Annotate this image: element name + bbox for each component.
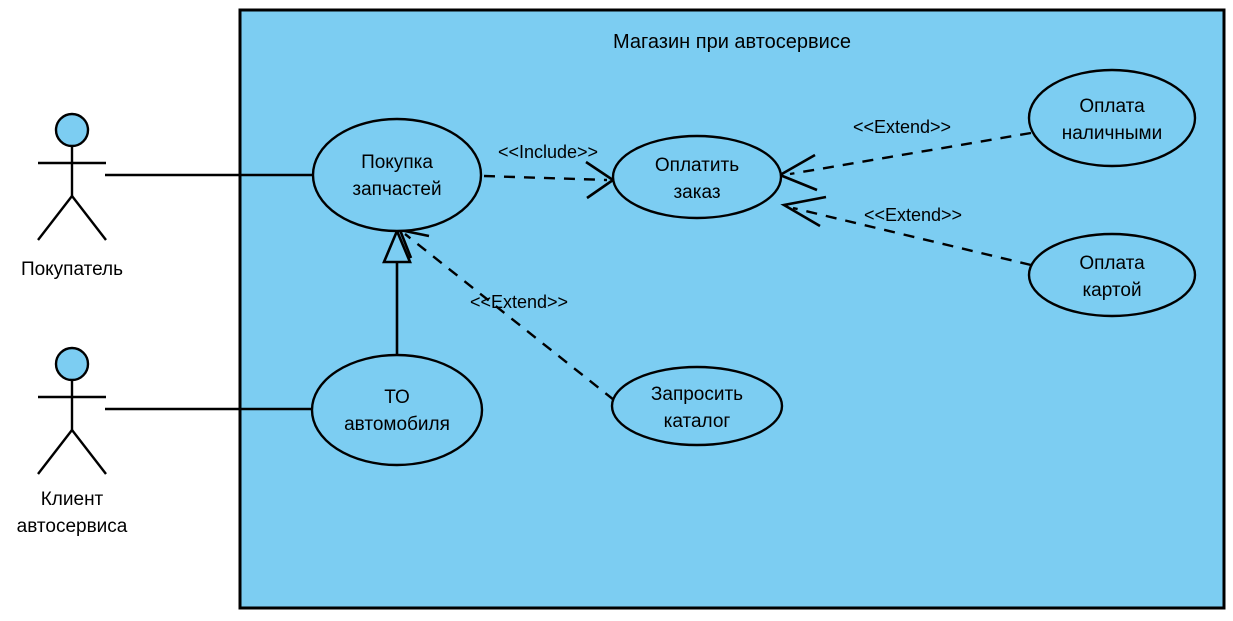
usecase-oplata-kartoy[interactable]: Оплата картой: [1029, 234, 1195, 316]
extend-stereotype-label: <<Extend>>: [853, 117, 951, 137]
usecase-label-line-1: Оплатить: [655, 155, 739, 176]
actor-right-leg-line: [72, 430, 106, 474]
usecase-ellipse-shape: [312, 355, 482, 465]
usecase-label-line-2: заказ: [673, 182, 720, 203]
actor-left-leg-line: [38, 430, 72, 474]
actor-label-line-2: автосервиса: [17, 516, 128, 537]
actor-label-line-1: Клиент: [41, 489, 104, 510]
usecase-ellipse-shape: [613, 136, 781, 218]
system-boundary-title: Магазин при автосервисе: [613, 31, 851, 53]
usecase-ellipse-shape: [612, 367, 782, 445]
usecase-label-line-1: Оплата: [1079, 253, 1145, 274]
usecase-label-line-2: запчастей: [352, 179, 441, 200]
usecase-label-line-2: каталог: [664, 411, 731, 432]
actor-right-leg-line: [72, 196, 106, 240]
usecase-zaprosit-katalog[interactable]: Запросить каталог: [612, 367, 782, 445]
usecase-label-line-2: наличными: [1062, 123, 1162, 144]
actor-head-icon: [56, 114, 88, 146]
usecase-label-line-1: Запросить: [651, 384, 743, 405]
usecase-label-line-2: картой: [1082, 280, 1141, 301]
usecase-label-line-1: Покупка: [361, 152, 433, 173]
extend-stereotype-label: <<Extend>>: [470, 292, 568, 312]
include-stereotype-label: <<Include>>: [498, 142, 598, 162]
usecase-label-line-1: ТО: [384, 387, 410, 408]
usecase-ellipse-shape: [1029, 234, 1195, 316]
diagram-canvas: Магазин при автосервисе Покупатель Клиен…: [0, 0, 1233, 621]
actor-head-icon: [56, 348, 88, 380]
uml-use-case-diagram: Магазин при автосервисе Покупатель Клиен…: [0, 0, 1233, 621]
usecase-label-line-1: Оплата: [1079, 96, 1145, 117]
usecase-label-line-2: автомобиля: [344, 414, 450, 435]
actor-left-leg-line: [38, 196, 72, 240]
actor-pokupatel[interactable]: Покупатель: [21, 114, 123, 280]
usecase-oplatit-zakaz[interactable]: Оплатить заказ: [613, 136, 781, 218]
actor-label: Покупатель: [21, 259, 123, 280]
usecase-oplata-nalichnymi[interactable]: Оплата наличными: [1029, 70, 1195, 166]
usecase-pokupka-zapchastey[interactable]: Покупка запчастей: [313, 119, 481, 231]
actor-klient-avtoservisa[interactable]: Клиент автосервиса: [17, 348, 128, 537]
usecase-ellipse-shape: [1029, 70, 1195, 166]
usecase-to-avtomobilya[interactable]: ТО автомобиля: [312, 355, 482, 465]
extend-stereotype-label: <<Extend>>: [864, 205, 962, 225]
usecase-ellipse-shape: [313, 119, 481, 231]
